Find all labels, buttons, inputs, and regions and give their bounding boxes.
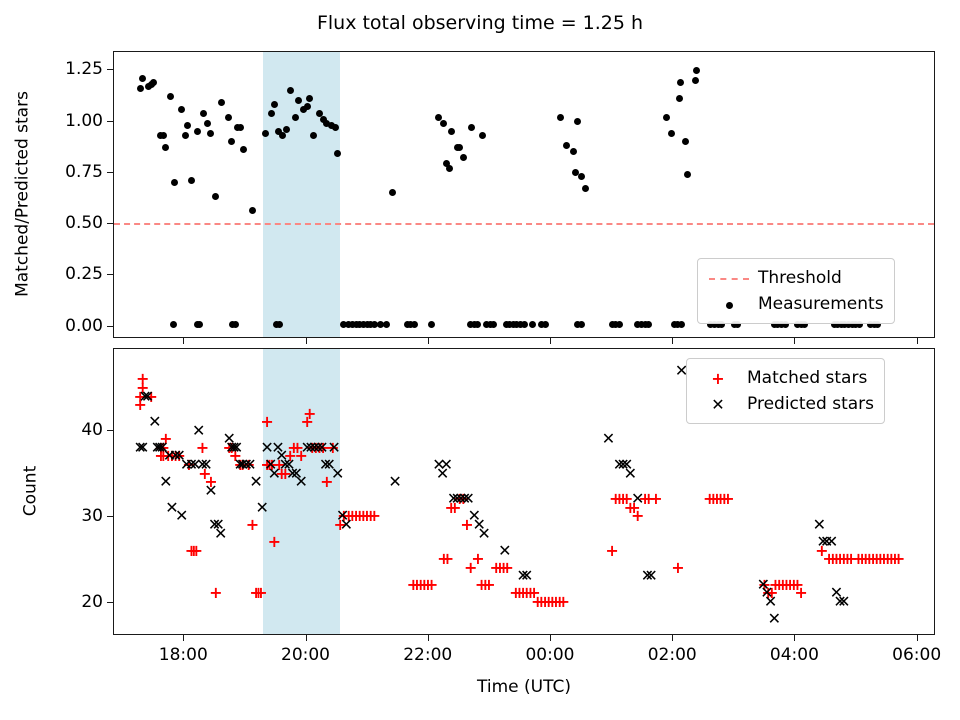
data-point-zero bbox=[542, 321, 549, 328]
data-point-measurement bbox=[212, 193, 219, 200]
data-point-predicted: ✕ bbox=[242, 457, 257, 472]
data-point-measurement bbox=[389, 189, 396, 196]
data-point-matched: + bbox=[267, 534, 282, 549]
data-point-zero bbox=[428, 321, 435, 328]
data-point-measurement bbox=[663, 114, 670, 121]
data-point-measurement bbox=[693, 67, 700, 74]
y-tick-label: 40 bbox=[51, 420, 103, 440]
data-point-predicted: ✕ bbox=[191, 423, 206, 438]
plus-marker-icon: + bbox=[695, 369, 741, 388]
data-point-measurement bbox=[218, 99, 225, 106]
data-point-zero bbox=[678, 321, 685, 328]
x-tick-label: 06:00 bbox=[892, 645, 941, 665]
data-point-matched: + bbox=[470, 551, 485, 566]
data-point-measurement bbox=[682, 138, 689, 145]
data-point-matched: + bbox=[424, 577, 439, 592]
data-point-measurement bbox=[440, 120, 447, 127]
x-tick-mark bbox=[917, 635, 918, 641]
data-point-zero bbox=[411, 321, 418, 328]
y-tick-label: 0.25 bbox=[51, 264, 103, 284]
data-point-measurement bbox=[448, 128, 455, 135]
data-point-measurement bbox=[207, 130, 214, 137]
data-point-predicted: ✕ bbox=[327, 440, 342, 455]
data-point-measurement bbox=[582, 185, 589, 192]
data-point-zero bbox=[276, 321, 283, 328]
data-point-measurement bbox=[137, 85, 144, 92]
data-point-measurement bbox=[684, 171, 691, 178]
x-tick-label: 00:00 bbox=[525, 645, 574, 665]
data-point-predicted: ✕ bbox=[330, 466, 345, 481]
data-point-predicted: ✕ bbox=[388, 474, 403, 489]
data-point-predicted: ✕ bbox=[158, 474, 173, 489]
data-point-measurement bbox=[249, 207, 256, 214]
data-point-matched: + bbox=[481, 577, 496, 592]
cross-marker-icon: ✕ bbox=[695, 395, 741, 414]
y-tick-label: 1.25 bbox=[51, 59, 103, 79]
data-point-predicted: ✕ bbox=[461, 491, 476, 506]
x-tick-mark bbox=[794, 635, 795, 641]
x-tick-mark bbox=[183, 635, 184, 641]
data-point-measurement bbox=[167, 93, 174, 100]
data-point-measurement bbox=[574, 118, 581, 125]
x-tick-mark bbox=[672, 635, 673, 641]
data-point-matched: + bbox=[670, 560, 685, 575]
data-point-predicted: ✕ bbox=[294, 474, 309, 489]
threshold-line bbox=[114, 223, 934, 225]
data-point-predicted: ✕ bbox=[339, 517, 354, 532]
data-point-measurement bbox=[171, 179, 178, 186]
data-point-measurement bbox=[334, 150, 341, 157]
data-point-predicted: ✕ bbox=[229, 440, 244, 455]
x-tick-mark bbox=[428, 635, 429, 641]
data-point-predicted: ✕ bbox=[147, 414, 162, 429]
data-point-matched: + bbox=[500, 560, 515, 575]
x-tick-mark-top bbox=[306, 338, 307, 344]
data-point-measurement bbox=[563, 142, 570, 149]
data-point-predicted: ✕ bbox=[630, 491, 645, 506]
legend-entry: +Matched stars bbox=[695, 365, 874, 391]
x-axis-label: Time (UTC) bbox=[477, 677, 571, 697]
data-point-zero bbox=[383, 321, 390, 328]
data-point-predicted: ✕ bbox=[174, 508, 189, 523]
legend-entry: ✕Predicted stars bbox=[695, 391, 874, 417]
data-point-matched: + bbox=[720, 491, 735, 506]
data-point-measurement bbox=[283, 126, 290, 133]
data-point-predicted: ✕ bbox=[497, 543, 512, 558]
data-point-measurement bbox=[287, 87, 294, 94]
data-point-measurement bbox=[184, 122, 191, 129]
data-point-predicted: ✕ bbox=[439, 457, 454, 472]
data-point-measurement bbox=[292, 114, 299, 121]
data-point-zero bbox=[645, 321, 652, 328]
ratio-y-axis-label: Matched/Predicted stars bbox=[12, 50, 32, 337]
y-tick-label: 30 bbox=[51, 506, 103, 526]
data-point-predicted: ✕ bbox=[601, 431, 616, 446]
counts-y-axis-label: Count bbox=[20, 347, 40, 634]
data-point-matched: + bbox=[605, 543, 620, 558]
x-tick-label: 18:00 bbox=[159, 645, 208, 665]
highlight-band bbox=[263, 349, 339, 634]
data-point-measurement bbox=[668, 130, 675, 137]
legend-label: Matched stars bbox=[741, 368, 867, 388]
data-point-predicted: ✕ bbox=[836, 594, 851, 609]
data-point-measurement bbox=[676, 95, 683, 102]
data-point-predicted: ✕ bbox=[199, 457, 214, 472]
data-point-zero bbox=[232, 321, 239, 328]
data-point-predicted: ✕ bbox=[135, 440, 150, 455]
data-point-zero bbox=[578, 321, 585, 328]
data-point-measurement bbox=[194, 128, 201, 135]
data-point-zero bbox=[529, 321, 536, 328]
ratio-legend: ThresholdMeasurements bbox=[697, 258, 895, 324]
data-point-measurement bbox=[204, 120, 211, 127]
data-point-predicted: ✕ bbox=[812, 517, 827, 532]
data-point-matched: + bbox=[195, 440, 210, 455]
data-point-matched: + bbox=[208, 585, 223, 600]
x-tick-label: 04:00 bbox=[770, 645, 819, 665]
x-tick-label: 20:00 bbox=[281, 645, 330, 665]
data-point-measurement bbox=[692, 77, 699, 84]
legend-key-dashed-line bbox=[706, 269, 752, 288]
data-point-matched: + bbox=[245, 517, 260, 532]
data-point-measurement bbox=[145, 83, 152, 90]
x-tick-mark bbox=[550, 635, 551, 641]
chart-title: Flux total observing time = 1.25 h bbox=[0, 12, 960, 34]
data-point-matched: + bbox=[648, 491, 663, 506]
x-tick-mark bbox=[306, 635, 307, 641]
data-point-zero bbox=[196, 321, 203, 328]
legend-entry: Measurements bbox=[706, 291, 884, 317]
data-point-measurement bbox=[162, 144, 169, 151]
data-point-zero bbox=[474, 321, 481, 328]
data-point-matched: + bbox=[253, 585, 268, 600]
data-point-measurement bbox=[557, 114, 564, 121]
data-point-matched: + bbox=[891, 551, 906, 566]
data-point-measurement bbox=[578, 173, 585, 180]
data-point-matched: + bbox=[367, 508, 382, 523]
data-point-zero bbox=[490, 321, 497, 328]
data-point-measurement bbox=[310, 132, 317, 139]
data-point-zero bbox=[616, 321, 623, 328]
legend-label: Measurements bbox=[752, 294, 884, 314]
data-point-predicted: ✕ bbox=[203, 483, 218, 498]
data-point-measurement bbox=[468, 124, 475, 131]
data-point-measurement bbox=[200, 110, 207, 117]
x-tick-mark-top bbox=[672, 338, 673, 344]
data-point-predicted: ✕ bbox=[767, 611, 782, 626]
data-point-matched: + bbox=[189, 543, 204, 558]
x-tick-mark-top bbox=[917, 338, 918, 344]
data-point-predicted: ✕ bbox=[255, 500, 270, 515]
data-point-measurement bbox=[160, 132, 167, 139]
data-point-measurement bbox=[178, 106, 185, 113]
data-point-predicted: ✕ bbox=[824, 534, 839, 549]
data-point-matched: + bbox=[440, 551, 455, 566]
x-tick-label: 22:00 bbox=[403, 645, 452, 665]
data-point-measurement bbox=[139, 75, 146, 82]
measurement-dot-icon bbox=[726, 302, 733, 309]
y-tick-label: 0.75 bbox=[51, 162, 103, 182]
data-point-measurement bbox=[456, 144, 463, 151]
data-point-predicted: ✕ bbox=[140, 389, 155, 404]
figure-root: Flux total observing time = 1.25 h 0.000… bbox=[0, 0, 960, 720]
data-point-measurement bbox=[182, 132, 189, 139]
data-point-measurement bbox=[570, 148, 577, 155]
x-tick-mark-top bbox=[428, 338, 429, 344]
data-point-predicted: ✕ bbox=[644, 568, 659, 583]
data-point-measurement bbox=[306, 95, 313, 102]
counts-legend: +Matched stars✕Predicted stars bbox=[686, 358, 885, 424]
data-point-measurement bbox=[237, 124, 244, 131]
data-point-measurement bbox=[446, 165, 453, 172]
data-point-predicted: ✕ bbox=[477, 526, 492, 541]
threshold-line-icon bbox=[709, 278, 749, 280]
data-point-measurement bbox=[240, 146, 247, 153]
legend-entry: Threshold bbox=[706, 265, 884, 291]
data-point-zero bbox=[170, 321, 177, 328]
data-point-measurement bbox=[268, 110, 275, 117]
legend-label: Predicted stars bbox=[741, 394, 874, 414]
data-point-matched: + bbox=[260, 414, 275, 429]
data-point-predicted: ✕ bbox=[519, 568, 534, 583]
data-point-measurement bbox=[228, 138, 235, 145]
data-point-measurement bbox=[225, 114, 232, 121]
y-tick-label: 20 bbox=[51, 592, 103, 612]
data-point-measurement bbox=[677, 79, 684, 86]
data-point-measurement bbox=[460, 154, 467, 161]
legend-key-dot bbox=[706, 295, 752, 314]
data-point-predicted: ✕ bbox=[213, 526, 228, 541]
x-tick-label: 02:00 bbox=[648, 645, 697, 665]
data-point-measurement bbox=[479, 132, 486, 139]
data-point-matched: + bbox=[794, 585, 809, 600]
data-point-measurement bbox=[332, 124, 339, 131]
x-tick-mark-top bbox=[183, 338, 184, 344]
data-point-zero bbox=[521, 321, 528, 328]
x-tick-mark-top bbox=[794, 338, 795, 344]
y-tick-label: 1.00 bbox=[51, 111, 103, 131]
highlight-band bbox=[263, 52, 339, 337]
y-tick-label: 0.00 bbox=[51, 316, 103, 336]
data-point-measurement bbox=[188, 177, 195, 184]
x-tick-mark-top bbox=[550, 338, 551, 344]
y-tick-label: 0.50 bbox=[51, 213, 103, 233]
data-point-predicted: ✕ bbox=[623, 466, 638, 481]
data-point-matched: + bbox=[556, 594, 571, 609]
data-point-matched: + bbox=[302, 406, 317, 421]
data-point-predicted: ✕ bbox=[249, 474, 264, 489]
data-point-predicted: ✕ bbox=[763, 594, 778, 609]
data-point-matched: + bbox=[630, 508, 645, 523]
legend-label: Threshold bbox=[752, 268, 842, 288]
